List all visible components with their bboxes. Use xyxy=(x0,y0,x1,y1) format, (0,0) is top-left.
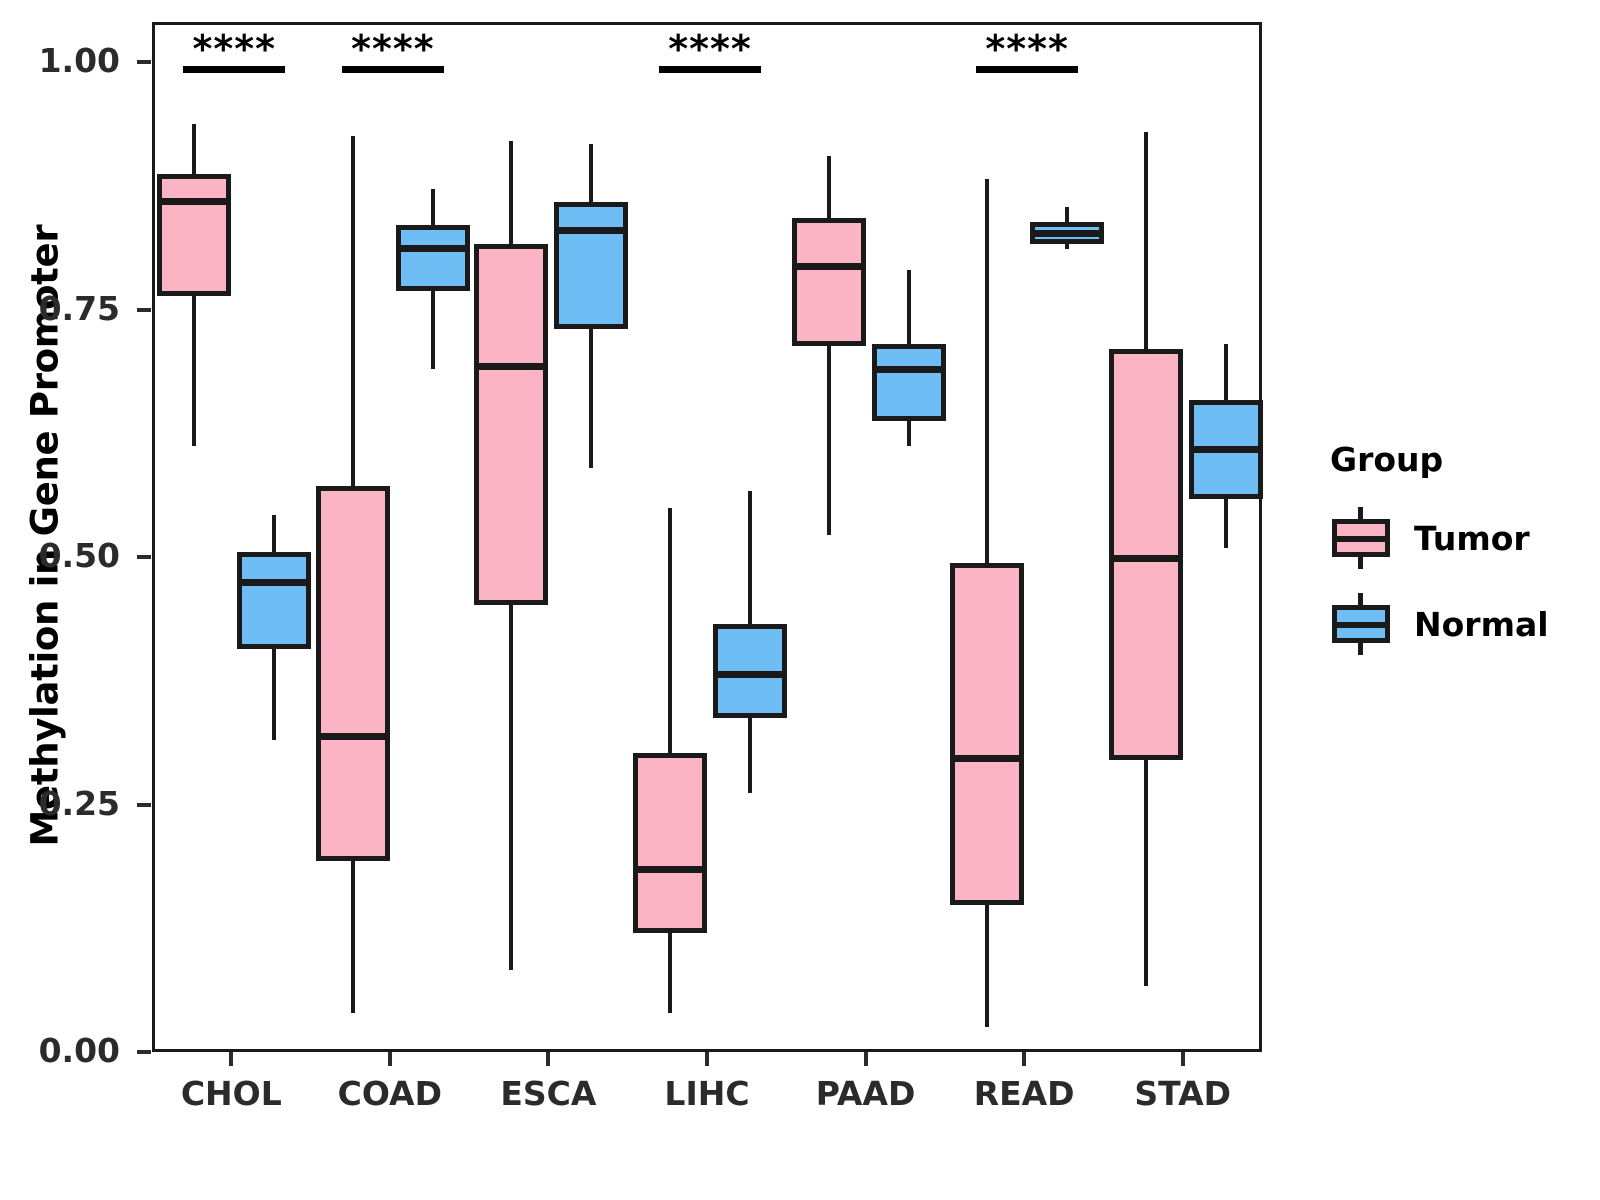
significance-annotation-coad: **** xyxy=(313,36,473,73)
legend-label-tumor: Tumor xyxy=(1414,519,1530,558)
whisker-lower xyxy=(351,861,355,1013)
median-line xyxy=(474,363,548,370)
whisker-upper xyxy=(272,515,276,552)
whisker-upper xyxy=(1065,207,1069,223)
plot-panel: **************** xyxy=(152,22,1262,1052)
whisker-lower xyxy=(907,421,911,446)
y-tick-label: 0.75 xyxy=(0,289,120,328)
x-tick-label-stad: STAD xyxy=(1083,1074,1283,1113)
y-tick-mark xyxy=(137,308,151,312)
whisker-upper xyxy=(1144,132,1148,349)
box-esca-normal[interactable] xyxy=(554,202,628,330)
box-esca-tumor[interactable] xyxy=(474,244,548,604)
box-coad-tumor[interactable] xyxy=(316,486,390,861)
legend: Group Tumor Normal xyxy=(1330,440,1590,679)
whisker-upper xyxy=(589,144,593,201)
legend-item-normal[interactable]: Normal xyxy=(1330,593,1590,655)
y-tick-label: 0.25 xyxy=(0,784,120,823)
median-line xyxy=(1189,446,1263,453)
median-line xyxy=(237,579,311,586)
x-tick-mark xyxy=(229,1052,233,1066)
median-line xyxy=(316,733,390,740)
significance-annotation-read: **** xyxy=(947,36,1107,73)
plot-area: **************** xyxy=(155,25,1259,1049)
whisker-upper xyxy=(192,124,196,174)
whisker-lower xyxy=(827,346,831,535)
legend-item-tumor[interactable]: Tumor xyxy=(1330,507,1590,569)
significance-stars: **** xyxy=(313,36,473,62)
whisker-upper xyxy=(907,270,911,344)
y-tick-mark xyxy=(137,60,151,64)
median-line xyxy=(396,245,470,252)
whisker-lower xyxy=(668,933,672,1013)
legend-label-normal: Normal xyxy=(1414,605,1549,644)
whisker-lower xyxy=(1065,244,1069,249)
median-line xyxy=(872,366,946,373)
median-line xyxy=(633,866,707,873)
box-coad-normal[interactable] xyxy=(396,225,470,290)
x-tick-mark xyxy=(1022,1052,1026,1066)
significance-stars: **** xyxy=(154,36,314,62)
whisker-upper xyxy=(827,156,831,218)
whisker-lower xyxy=(272,649,276,740)
whisker-lower xyxy=(1224,499,1228,549)
whisker-lower xyxy=(1144,760,1148,986)
significance-annotation-lihc: **** xyxy=(630,36,790,73)
median-line xyxy=(792,263,866,270)
whisker-lower xyxy=(431,291,435,369)
whisker-upper xyxy=(668,508,672,754)
chart-root: Methylation in Gene Promoter 0.000.250.5… xyxy=(0,0,1600,1200)
whisker-lower xyxy=(589,329,593,468)
whisker-upper xyxy=(509,141,513,244)
box-paad-normal[interactable] xyxy=(872,344,946,421)
y-tick-label: 1.00 xyxy=(0,41,120,80)
y-tick-mark xyxy=(137,803,151,807)
whisker-lower xyxy=(192,296,196,446)
box-chol-tumor[interactable] xyxy=(157,174,231,296)
significance-stars: **** xyxy=(630,36,790,62)
whisker-upper xyxy=(351,136,355,485)
x-tick-mark xyxy=(546,1052,550,1066)
box-paad-tumor[interactable] xyxy=(792,218,866,346)
y-tick-mark xyxy=(137,555,151,559)
median-line xyxy=(950,755,1024,762)
whisker-upper xyxy=(1224,344,1228,399)
significance-annotation-chol: **** xyxy=(154,36,314,73)
x-tick-mark xyxy=(705,1052,709,1066)
median-line xyxy=(157,198,231,205)
x-tick-mark xyxy=(388,1052,392,1066)
whisker-lower xyxy=(748,718,752,792)
whisker-lower xyxy=(509,605,513,970)
y-tick-label: 0.00 xyxy=(0,1031,120,1070)
box-lihc-tumor[interactable] xyxy=(633,753,707,933)
whisker-upper xyxy=(431,189,435,226)
legend-key-normal-icon xyxy=(1330,593,1392,655)
legend-key-tumor-icon xyxy=(1330,507,1392,569)
x-tick-mark xyxy=(1181,1052,1185,1066)
box-chol-normal[interactable] xyxy=(237,552,311,649)
box-read-tumor[interactable] xyxy=(950,563,1024,905)
y-tick-label: 0.50 xyxy=(0,536,120,575)
legend-title: Group xyxy=(1330,440,1590,479)
whisker-upper xyxy=(748,491,752,625)
y-tick-mark xyxy=(137,1050,151,1054)
x-tick-mark xyxy=(864,1052,868,1066)
median-line xyxy=(1030,230,1104,237)
median-line xyxy=(554,227,628,234)
whisker-lower xyxy=(985,905,989,1028)
median-line xyxy=(713,671,787,678)
significance-stars: **** xyxy=(947,36,1107,62)
whisker-upper xyxy=(985,179,989,563)
median-line xyxy=(1109,555,1183,562)
